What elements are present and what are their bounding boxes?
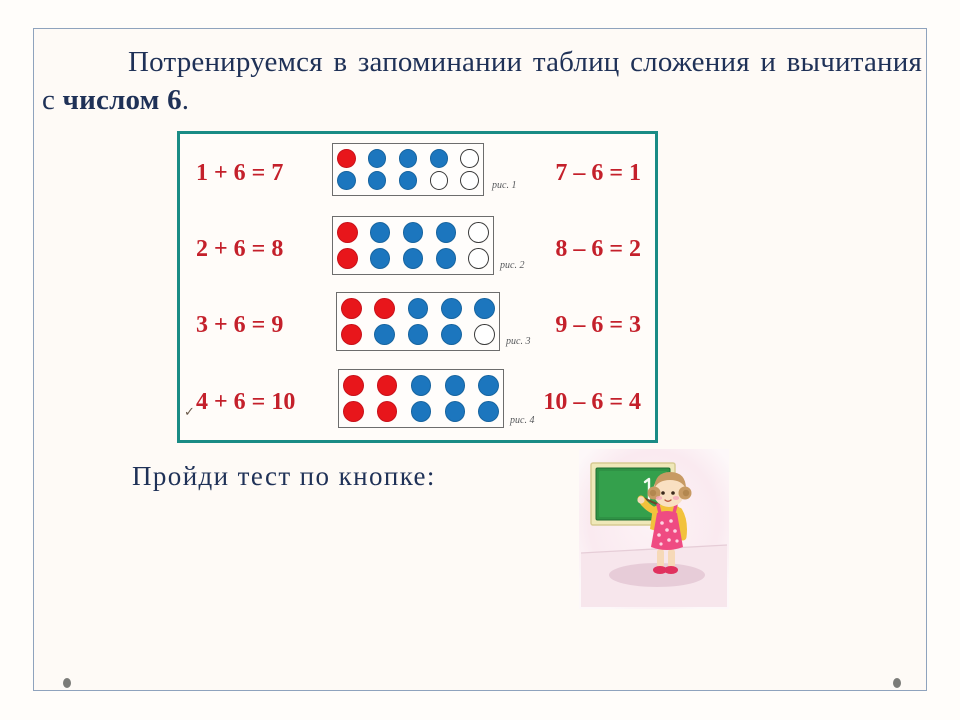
dot-grid — [332, 143, 484, 196]
blue-dot — [430, 149, 449, 168]
empty-dot — [460, 149, 479, 168]
blue-dot — [474, 298, 495, 319]
blackboard-scene-svg — [579, 449, 729, 609]
blue-dot — [368, 171, 387, 190]
figure-label: рис. 1 — [492, 180, 516, 191]
addition-equation: 4 + 6 = 10 — [196, 389, 295, 416]
blue-dot — [445, 375, 466, 396]
subtraction-equation: 9 – 6 = 3 — [555, 312, 641, 339]
title-text-part3: . — [182, 84, 189, 116]
empty-dot — [430, 171, 449, 190]
dot-row-bottom — [337, 246, 489, 272]
blue-dot — [408, 298, 429, 319]
blue-dot — [441, 298, 462, 319]
red-dot — [374, 298, 395, 319]
empty-dot — [460, 171, 479, 190]
figure-label: рис. 4 — [510, 415, 534, 426]
table-row: 2 + 6 = 8 рис. 2 8 – 6 = 2 — [180, 216, 655, 286]
page-title: Потренируемся в запоминании таблиц сложе… — [42, 43, 922, 120]
red-dot — [343, 401, 364, 422]
addition-equation: 2 + 6 = 8 — [196, 236, 283, 263]
blue-dot — [478, 375, 499, 396]
blue-dot — [370, 222, 391, 243]
dot-row-top — [343, 373, 499, 399]
subtraction-equation: 7 – 6 = 1 — [555, 160, 641, 187]
blue-dot — [436, 248, 457, 269]
decorative-dot-left — [63, 678, 71, 688]
addition-subtraction-table: 1 + 6 = 7 рис. 1 7 – 6 = 1 2 + 6 = 8 рис… — [177, 131, 658, 443]
dot-row-bottom — [343, 399, 499, 425]
red-dot — [341, 324, 362, 345]
blue-dot — [399, 149, 418, 168]
girl-at-blackboard-illustration[interactable] — [579, 449, 729, 609]
blue-dot — [441, 324, 462, 345]
red-dot — [337, 149, 356, 168]
blue-dot — [445, 401, 466, 422]
red-dot — [377, 401, 398, 422]
addition-equation: 3 + 6 = 9 — [196, 312, 283, 339]
dot-grid — [336, 292, 500, 351]
blue-dot — [399, 171, 418, 190]
blue-dot — [374, 324, 395, 345]
blue-dot — [370, 248, 391, 269]
red-dot — [341, 298, 362, 319]
figure-label: рис. 2 — [500, 260, 524, 271]
red-dot — [337, 248, 358, 269]
dot-row-bottom — [341, 322, 495, 348]
dot-row-top — [337, 220, 489, 246]
blue-dot — [368, 149, 387, 168]
row-marker — [184, 330, 194, 340]
blue-dot — [408, 324, 429, 345]
dot-row-top — [337, 147, 479, 170]
dot-row-top — [341, 296, 495, 322]
red-dot — [377, 375, 398, 396]
blue-dot — [436, 222, 457, 243]
red-dot — [337, 222, 358, 243]
dot-grid — [338, 369, 504, 428]
blue-dot — [403, 248, 424, 269]
blue-dot — [337, 171, 356, 190]
blue-dot — [411, 401, 432, 422]
empty-dot — [468, 248, 489, 269]
subtraction-equation: 8 – 6 = 2 — [555, 236, 641, 263]
blue-dot — [403, 222, 424, 243]
table-row: ✓ 4 + 6 = 10 рис. 4 10 – 6 = 4 — [180, 369, 655, 439]
blue-dot — [411, 375, 432, 396]
dot-row-bottom — [337, 170, 479, 193]
addition-equation: 1 + 6 = 7 — [196, 160, 283, 187]
slide-frame: Потренируемся в запоминании таблиц сложе… — [33, 28, 927, 691]
test-prompt-text: Пройди тест по кнопке: — [132, 461, 436, 492]
table-row: 3 + 6 = 9 рис. 3 9 – 6 = 3 — [180, 292, 655, 362]
empty-dot — [474, 324, 495, 345]
empty-dot — [468, 222, 489, 243]
row-marker: ✓ — [184, 407, 194, 417]
subtraction-equation: 10 – 6 = 4 — [543, 389, 641, 416]
title-text-bold: числом 6 — [63, 84, 182, 116]
row-marker — [184, 178, 194, 188]
red-dot — [343, 375, 364, 396]
row-marker — [184, 254, 194, 264]
table-row: 1 + 6 = 7 рис. 1 7 – 6 = 1 — [180, 140, 655, 210]
blue-dot — [478, 401, 499, 422]
figure-label: рис. 3 — [506, 336, 530, 347]
decorative-dot-right — [893, 678, 901, 688]
dot-grid — [332, 216, 494, 275]
